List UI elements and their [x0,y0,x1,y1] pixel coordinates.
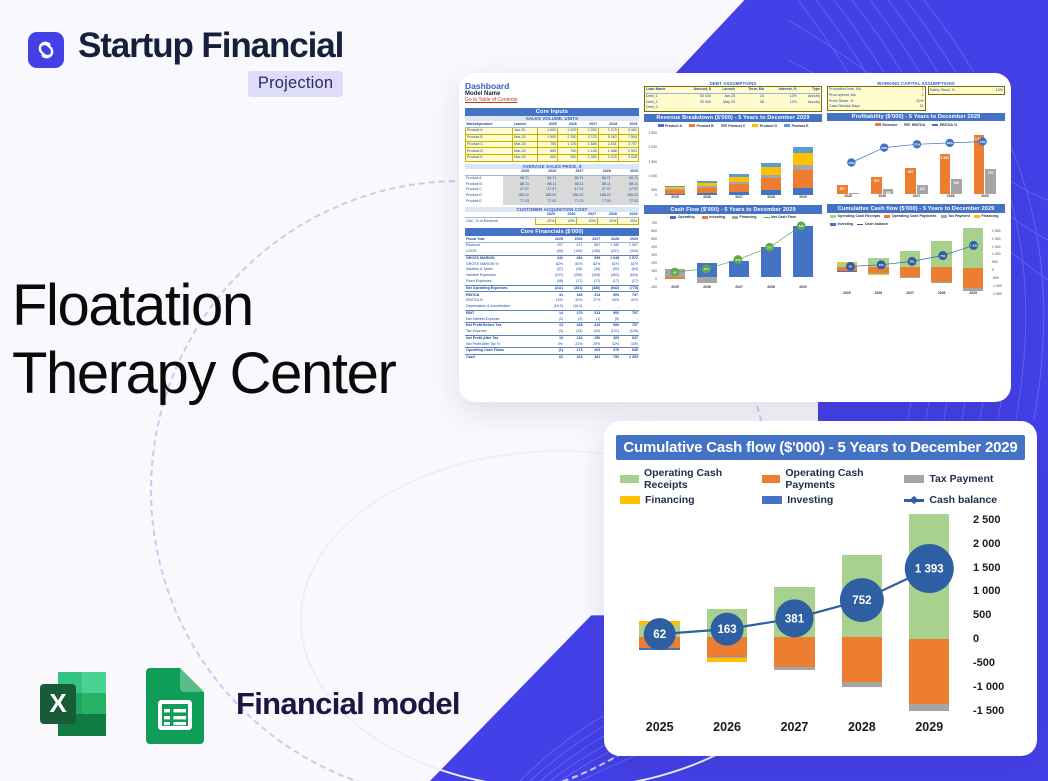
svg-text:640: 640 [799,224,804,228]
legend-tax-payment: Tax Payment [904,467,1021,491]
legend-investing: Investing [709,215,725,219]
debt-assumptions-table: Loan Name Amount, $ Launch Term, Mo Inte… [644,86,822,112]
table-row: Product C Mar-25 750 1 125 1 688 2 531 3… [466,141,639,148]
profitability-chart[interactable]: Revenue EBITDA EBITDA % 2973157118585731… [827,121,1005,203]
profitability-legend: Revenue EBITDA EBITDA % [827,121,1005,128]
svg-text:1 393: 1 393 [915,564,944,576]
bar-segment [793,188,814,196]
footer-badges: X Financial model [30,662,460,746]
legend-net-cash-flow: Net Cash Flow [771,215,796,219]
legend-ebitda: EBITDA [912,123,925,127]
bar-segment [793,153,814,165]
svg-text:1 393: 1 393 [970,244,978,248]
legend-operating-cash-payments: Operating Cash Payments [762,467,904,491]
svg-text:62: 62 [849,265,853,269]
big-chart-x-axis: 2025 2026 2027 2028 2029 [626,715,963,739]
svg-text:752: 752 [852,595,871,607]
svg-text:163: 163 [718,624,737,636]
working-capital-table: Production time, Mo 2 Prod upfront, Mo 2… [827,86,926,111]
cumulative-cash-flow-card[interactable]: Cumulative Cash flow ($'000) - 5 Years t… [604,421,1037,756]
svg-text:371: 371 [767,245,772,249]
big-chart-plot[interactable]: 2 500 2 000 1 500 1 000 500 0 -500 -1 00… [616,514,1025,739]
dashboard-left-column: Dashboard Model Name Go to Table of Cont… [465,81,639,361]
table-row: Product E Mar-25 600 900 1 350 2 025 3 0… [466,155,639,162]
legend-product-e: Product E [792,124,809,128]
revenue-y-axis: 2 500 2 000 1 500 1 000 500 0 [644,129,658,204]
sales-volume-table: Market/product Launch 2025 2026 2027 202… [465,121,639,162]
svg-text:41%: 41% [980,140,986,144]
bar-segment [729,184,750,192]
legend-ebitda-pct: EBITDA % [940,123,957,127]
microsoft-excel-icon: X [30,662,114,746]
legend-operating-cash-receipts: Operating Cash Receipts [620,467,762,491]
legend-financing: Financing [620,494,762,506]
big-chart-legend: Operating Cash Receipts Operating Cash P… [616,467,1025,506]
table-row: Product B Mar-25 1 500 2 250 3 375 5 063… [466,134,639,141]
page-title: Floatation Therapy Center [12,272,412,409]
dashboard-right-column: WORKING CAPITAL ASSUMPTIONS Production t… [827,81,1005,361]
cash-balance-line: 621633817521 393 [827,228,1011,378]
table-row: CAC, % of Revenue 20% 20% 20% 20% 20% [465,218,639,225]
svg-text:37%: 37% [914,143,920,147]
table-row: Product D Mar-25 500 750 1 125 1 688 2 5… [466,148,639,155]
bar-group [761,129,782,195]
x-label-2029: 2029 [909,720,949,734]
svg-text:752: 752 [940,254,945,258]
big-chart-title: Cumulative Cash flow ($'000) - 5 Years t… [616,435,1025,460]
legend-product-a: Product A [665,124,682,128]
svg-text:62: 62 [653,629,666,641]
revenue-breakdown-legend: Product A Product B Product C Product D … [644,122,822,129]
brand-title: Startup Financial [78,28,343,65]
dashboard-heading: Dashboard [465,81,639,91]
cac-table: 2025 2026 2027 2028 2029 CAC, % of Reven… [465,212,639,226]
legend-product-d: Product D [760,124,777,128]
legend-cash-balance: Cash balance [904,494,1021,506]
table-row: Safety Stock, % 10% [928,87,1004,95]
brand-subtitle: Projection [248,71,343,97]
svg-text:X: X [49,688,67,718]
table-row: Debt_3 [645,105,822,111]
table-row: Net Operating Expenses(211)(281)(386)(54… [465,285,639,292]
svg-text:381: 381 [910,259,915,263]
svg-text:62: 62 [673,270,677,274]
safety-stock-table: Safety Stock, % 10% [928,86,1005,95]
table-row: Cash Receipt Days 21 [828,104,926,110]
footer-label: Financial model [236,686,460,722]
table-row: Product E 77.03 77.03 77.03 77.03 77.03 [465,199,639,205]
core-financials-band: Core Financials ($'000) [465,228,639,236]
table-row: Product A Jan-25 1 000 1 500 2 250 3 375… [466,128,639,135]
google-sheets-icon [138,664,212,744]
average-price-table: 2025 2026 2027 2028 2029 Product A 58.71… [465,169,639,205]
legend-revenue: Revenue [882,123,897,127]
bar-segment [793,170,814,188]
svg-text:381: 381 [785,613,805,625]
core-inputs-band: Core Inputs [465,108,639,116]
svg-text:163: 163 [879,263,884,267]
bar-segment [761,167,782,175]
cash-flow-chart[interactable]: Operating Investing Financing Net Cash F… [644,214,822,294]
bar-segment-tax [842,682,882,687]
svg-text:39%: 39% [947,142,953,146]
bar-group [729,129,750,195]
x-label-2028: 2028 [842,720,882,734]
table-row: Operating Cash Flows(1)174203376640 [465,348,639,355]
cash-flow-legend: Operating Investing Financing Net Cash F… [644,214,822,221]
legend-product-b: Product B [697,124,714,128]
bar-group [665,129,686,195]
x-label-2026: 2026 [707,720,747,734]
x-label-2025: 2025 [639,720,679,734]
brand-logo: Startup Financial Projection [28,28,343,97]
revenue-breakdown-title: Revenue Breakdown ($'000) - 5 Years to D… [644,114,822,122]
svg-text:32%: 32% [881,146,887,150]
revenue-bars [659,129,819,195]
dashboard-preview-card[interactable]: Dashboard Model Name Go to Table of Cont… [459,73,1011,402]
infinity-mark-icon [28,32,64,68]
svg-text:10%: 10% [848,161,854,165]
legend-product-c: Product C [728,124,745,128]
legend-operating: Operating [678,215,695,219]
legend-financing: Financing [740,215,757,219]
legend-investing: Investing [762,494,904,506]
dashboard-middle-column: DEBT ASSUMPTIONS Loan Name Amount, $ Lau… [644,81,822,361]
revenue-breakdown-chart[interactable]: Product A Product B Product C Product D … [644,122,822,204]
bar-segment-tax [774,667,814,670]
profitability-title: Profitability ($'000) - 5 Years to Decem… [827,113,1005,121]
big-cash-balance-line: 621633817521 393 [616,514,916,664]
big-chart-y-axis: 2 500 2 000 1 500 1 000 500 0 -500 -1 00… [967,514,1025,711]
bar-group [793,129,814,195]
bar-segment-tax [909,704,949,711]
svg-text:101: 101 [704,267,709,271]
bar-segment [761,178,782,190]
core-financials-table: Fiscal Year 2025 2026 2027 2028 2029 Rev… [465,236,639,360]
cash-flow-title: Cash Flow ($'000) - 5 Years to December … [644,205,822,213]
x-label-2027: 2027 [774,720,814,734]
table-of-contents-link[interactable]: Go to Table of Contents [465,97,639,103]
bar-group [697,129,718,195]
svg-text:218: 218 [735,258,740,262]
revenue-x-axis: 2025 2026 2027 2028 2029 [659,195,819,204]
table-row: Cash621633817521 393 [465,355,639,361]
